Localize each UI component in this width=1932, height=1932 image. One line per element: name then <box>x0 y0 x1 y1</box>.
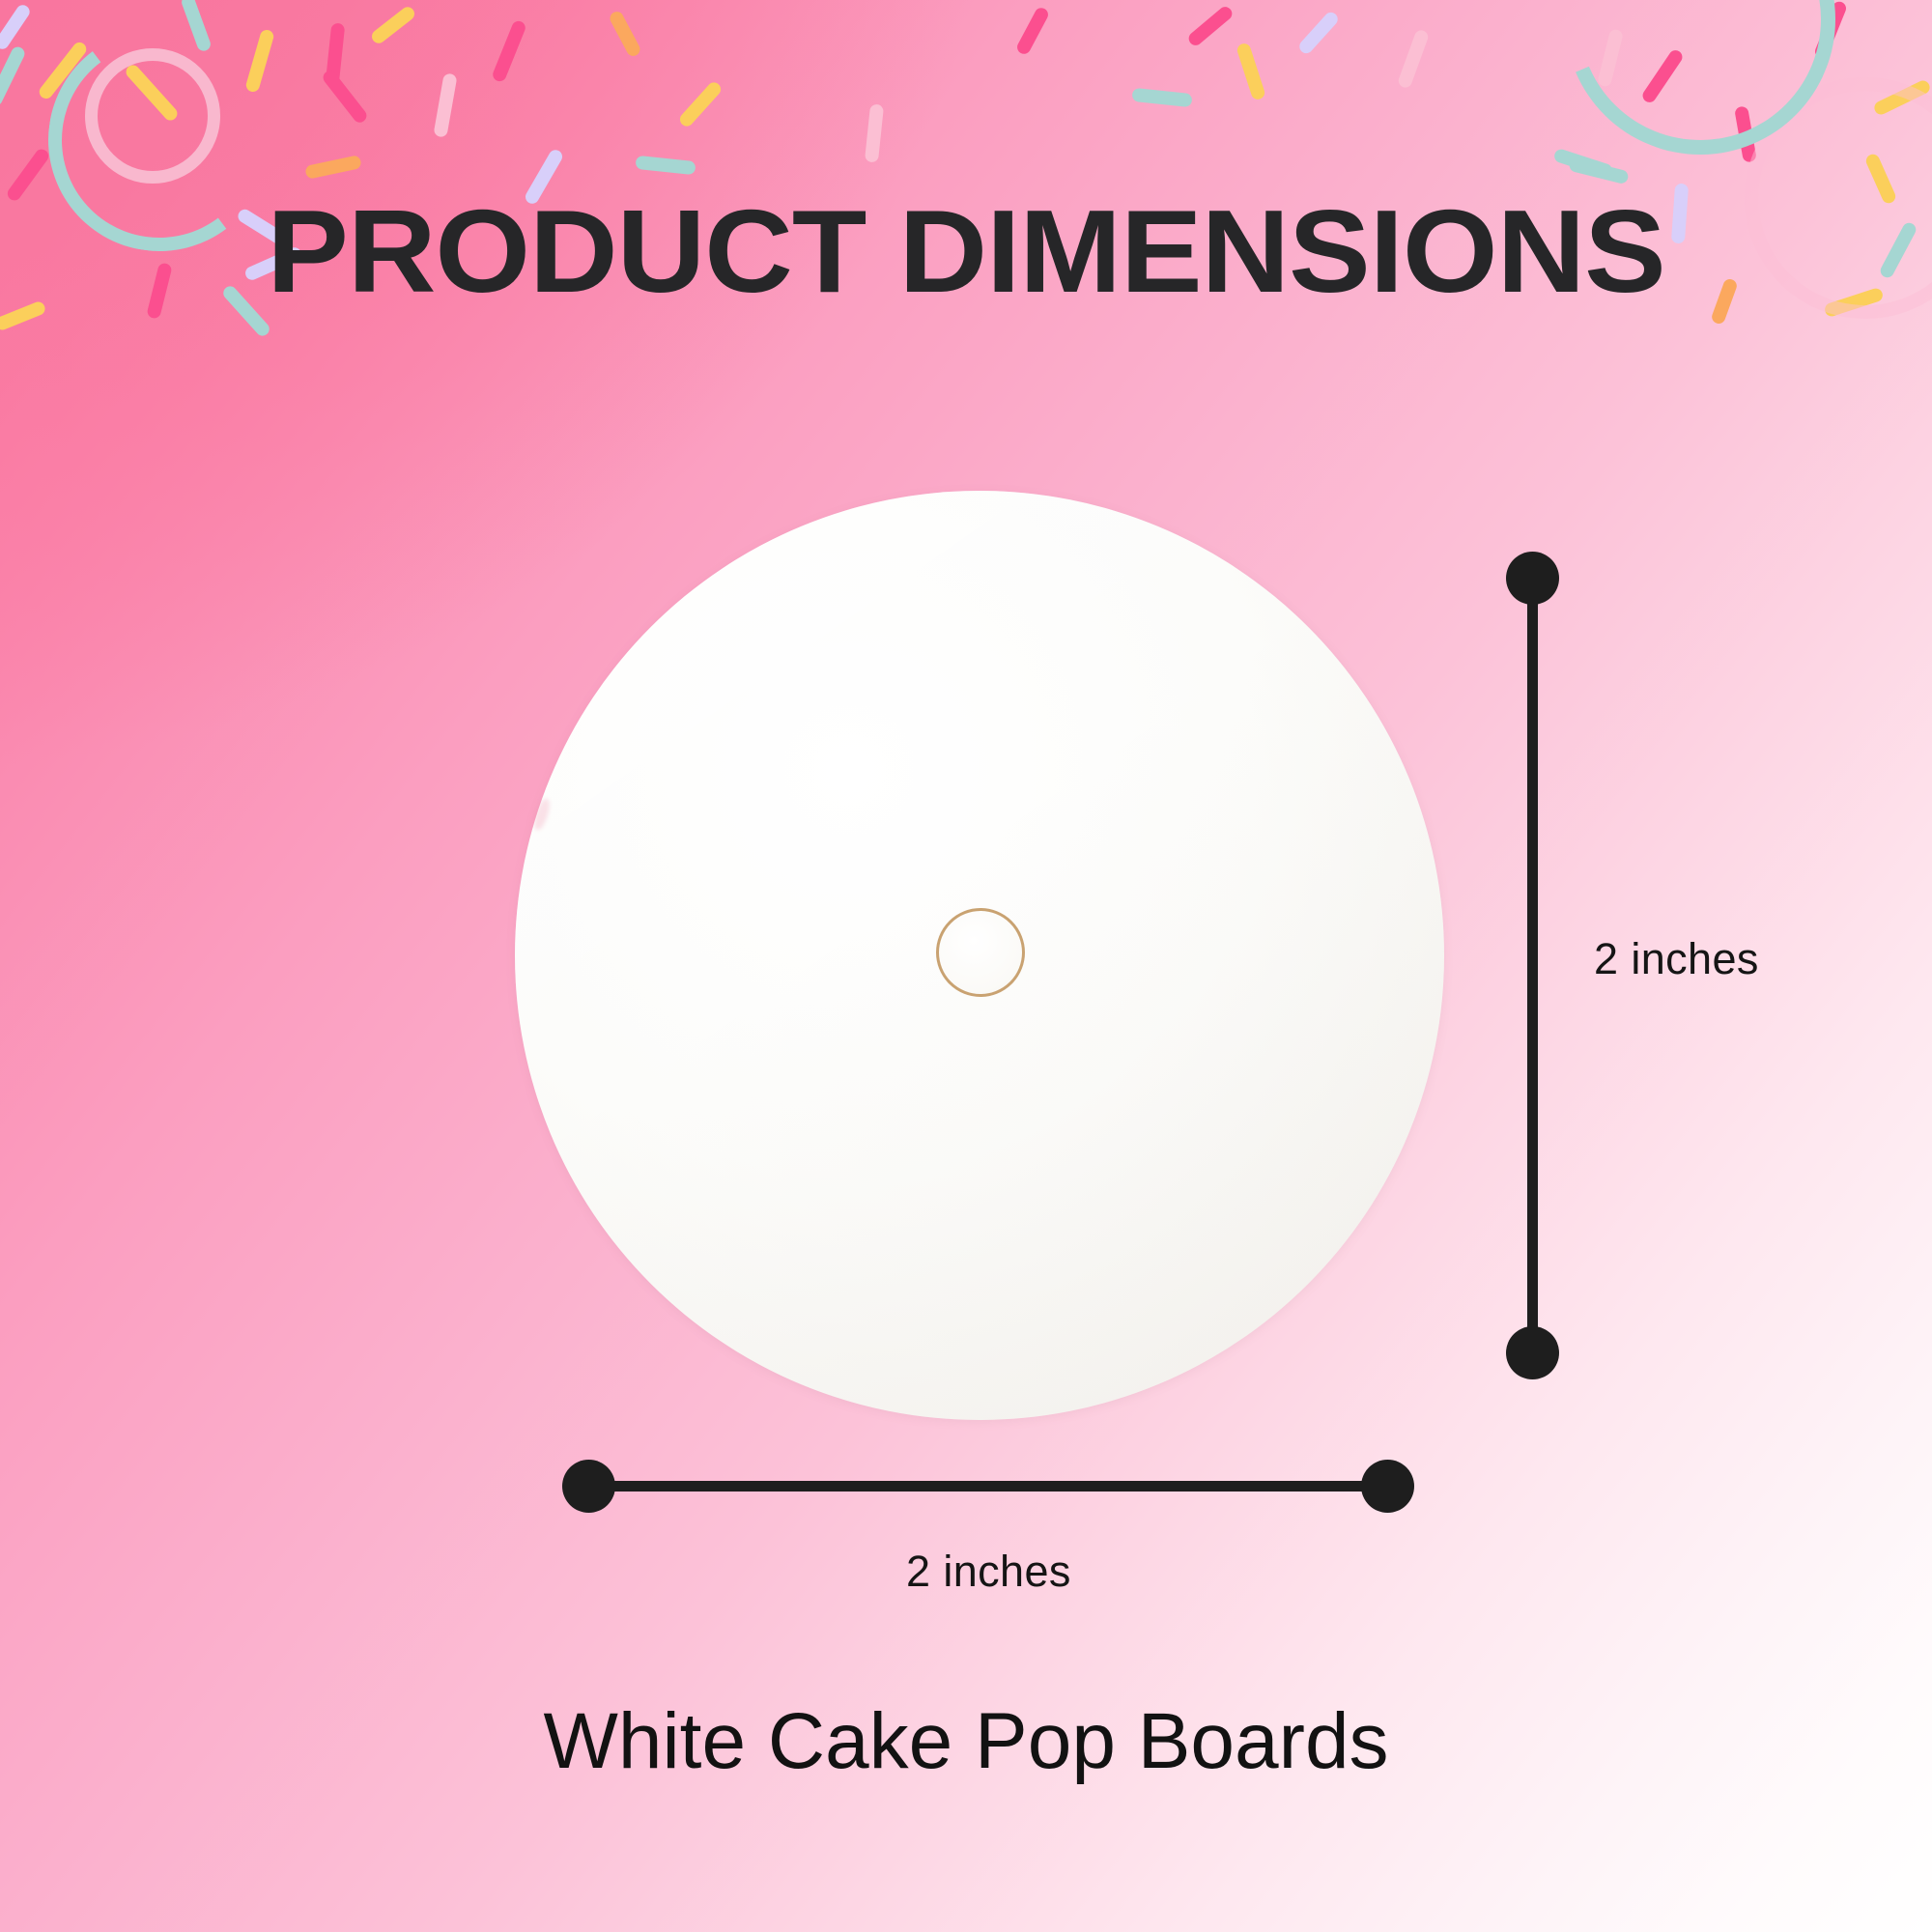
sprinkle-lightpink-1-icon <box>433 72 457 137</box>
infographic-canvas: PRODUCT DIMENSIONS 2 inches 2 inches Whi… <box>0 0 1932 1932</box>
sprinkle-hotpink-9-icon <box>1015 6 1051 56</box>
height-dimension-line <box>1527 573 1538 1353</box>
sprinkle-lavender-4-icon <box>0 3 32 52</box>
sprinkle-hotpink-2-icon <box>321 68 369 125</box>
sprinkle-hotpink-8-icon <box>1186 4 1235 47</box>
sprinkle-teal-8-icon <box>1131 88 1192 107</box>
width-dimension-endpoint-right <box>1361 1460 1414 1513</box>
sprinkle-yellow-5-icon <box>677 80 724 129</box>
product-caption: White Cake Pop Boards <box>0 1696 1932 1787</box>
sprinkle-hotpink-3-icon <box>491 19 527 83</box>
sprinkle-teal-2-icon <box>635 156 696 175</box>
sprinkle-lightpink-3-icon <box>1397 28 1430 89</box>
sprinkle-teal-4-icon <box>0 44 27 107</box>
width-dimension-label: 2 inches <box>906 1547 1071 1597</box>
height-dimension-label: 2 inches <box>1594 934 1759 984</box>
width-dimension-endpoint-left <box>562 1460 615 1513</box>
sprinkle-orange-1-icon <box>304 155 362 180</box>
width-dimension-line <box>583 1481 1393 1492</box>
disc-center-hole-icon <box>936 908 1025 997</box>
sprinkle-yellow-9-icon <box>1236 42 1266 100</box>
height-dimension-endpoint-top <box>1506 552 1559 605</box>
height-dimension-endpoint-bottom <box>1506 1326 1559 1379</box>
sprinkle-lightpink-4-icon <box>865 103 884 162</box>
sprinkle-yellow-4-icon <box>369 4 417 45</box>
product-disc-cake-pop-board <box>515 491 1444 1420</box>
disc-smudge <box>531 797 553 832</box>
page-title: PRODUCT DIMENSIONS <box>0 189 1932 313</box>
sprinkle-lavender-6-icon <box>1296 10 1340 56</box>
sprinkle-orange-2-icon <box>608 10 642 59</box>
